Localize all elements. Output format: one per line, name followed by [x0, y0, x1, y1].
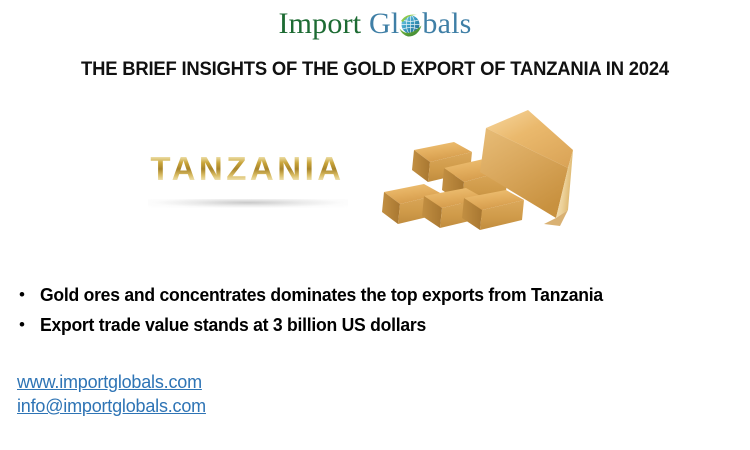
email-link[interactable]: info@importglobals.com — [17, 394, 206, 418]
website-link[interactable]: www.importglobals.com — [17, 370, 206, 394]
bullet-text: Gold ores and concentrates dominates the… — [40, 282, 603, 308]
footer-links: www.importglobals.com info@importglobals… — [17, 370, 206, 418]
logo-text-import: Import — [278, 7, 361, 40]
list-item: • Gold ores and concentrates dominates t… — [14, 282, 750, 308]
tanzania-wordmark-text: TANZANIA — [140, 150, 355, 188]
bullet-text: Export trade value stands at 3 billion U… — [40, 312, 426, 338]
page-title: THE BRIEF INSIGHTS OF THE GOLD EXPORT OF… — [11, 58, 739, 82]
brand-logo: Import Gl — [0, 6, 750, 42]
logo-text-bals: bals — [422, 7, 471, 40]
insights-bullet-list: • Gold ores and concentrates dominates t… — [14, 282, 750, 342]
bullet-marker-icon: • — [14, 282, 40, 308]
globe-icon — [398, 12, 423, 37]
hero-section: TANZANIA — [0, 100, 750, 240]
tanzania-wordmark-shadow — [148, 199, 348, 208]
tanzania-wordmark: TANZANIA — [140, 150, 355, 208]
list-item: • Export trade value stands at 3 billion… — [14, 312, 750, 338]
logo-text-gl: Gl — [369, 7, 399, 40]
gold-bars-illustration — [368, 106, 578, 238]
bullet-marker-icon: • — [14, 312, 40, 338]
